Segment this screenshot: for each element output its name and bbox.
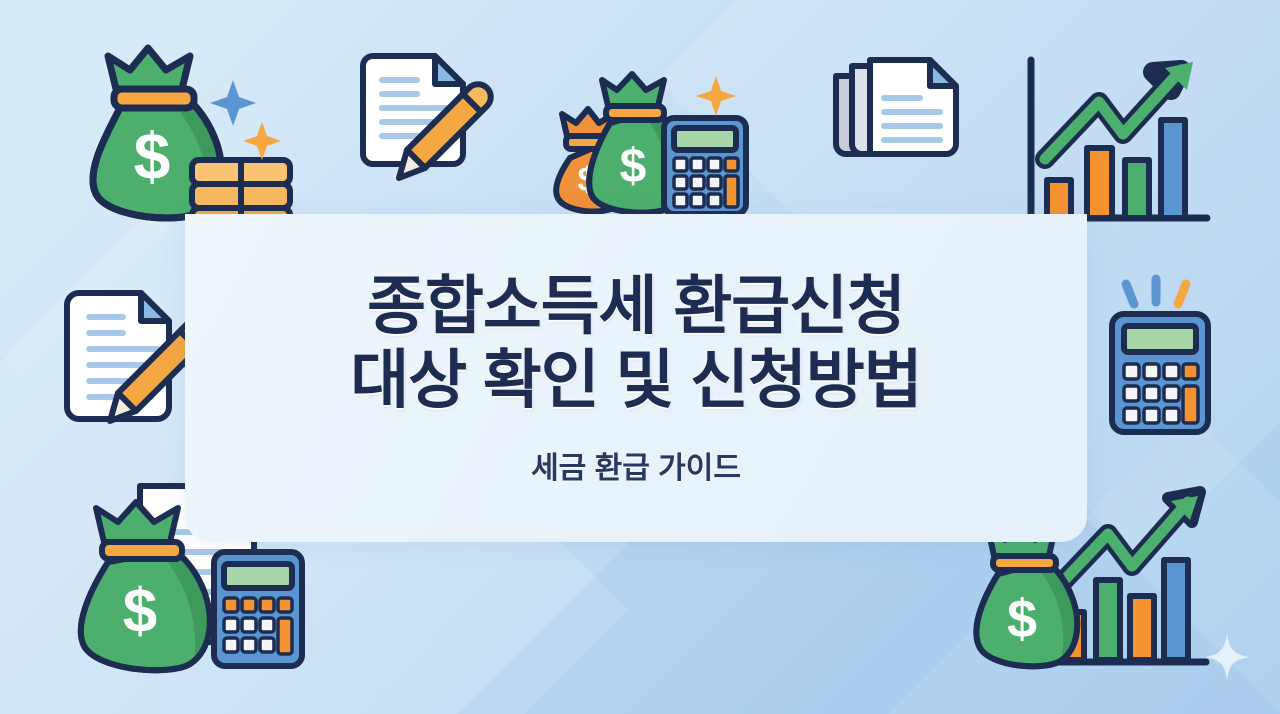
- title-card: 종합소득세 환급신청 대상 확인 및 신청방법 세금 환급 가이드: [185, 214, 1087, 542]
- bar-chart-growth-arrow-icon: [1015, 52, 1220, 232]
- page-title-line-2: 대상 확인 및 신청방법: [350, 343, 921, 417]
- svg-text:$: $: [123, 577, 157, 646]
- svg-text:$: $: [134, 119, 171, 193]
- money-bags-with-calculator-icon: $ $: [540, 70, 755, 225]
- page-subtitle: 세금 환급 가이드: [531, 443, 741, 487]
- document-with-pencil-icon: [355, 42, 505, 202]
- svg-text:$: $: [620, 140, 647, 193]
- calculator-icon: [1098, 272, 1223, 442]
- page-title-line-1: 종합소득세 환급신청: [367, 269, 905, 343]
- svg-text:$: $: [1007, 589, 1037, 649]
- stacked-documents-icon: [822, 50, 972, 180]
- money-bag-with-coin-stack-icon: $: [72, 42, 322, 237]
- banner-canvas: $: [0, 0, 1280, 714]
- sparkle-icon: [1204, 632, 1250, 687]
